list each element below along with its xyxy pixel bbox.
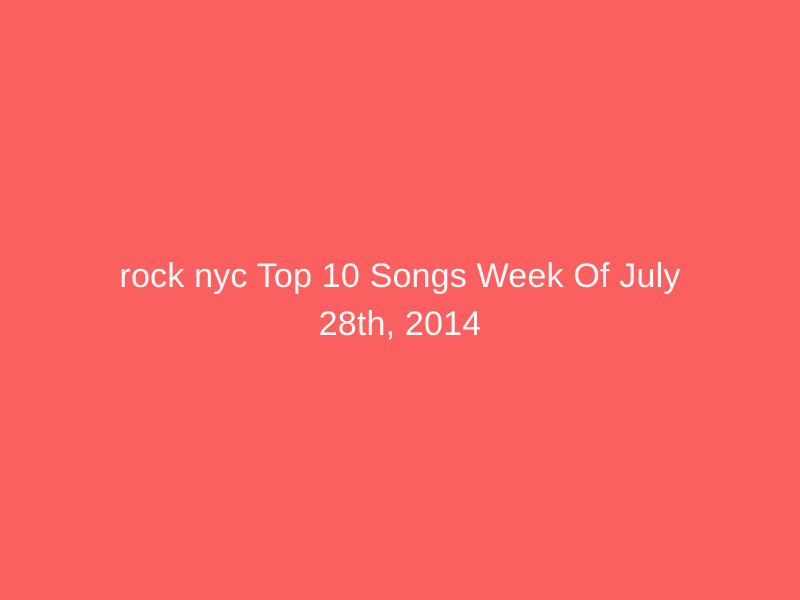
card-title: rock nyc Top 10 Songs Week Of July 28th,… — [88, 252, 712, 348]
placeholder-image-card: rock nyc Top 10 Songs Week Of July 28th,… — [0, 0, 800, 600]
title-block: rock nyc Top 10 Songs Week Of July 28th,… — [88, 252, 712, 348]
